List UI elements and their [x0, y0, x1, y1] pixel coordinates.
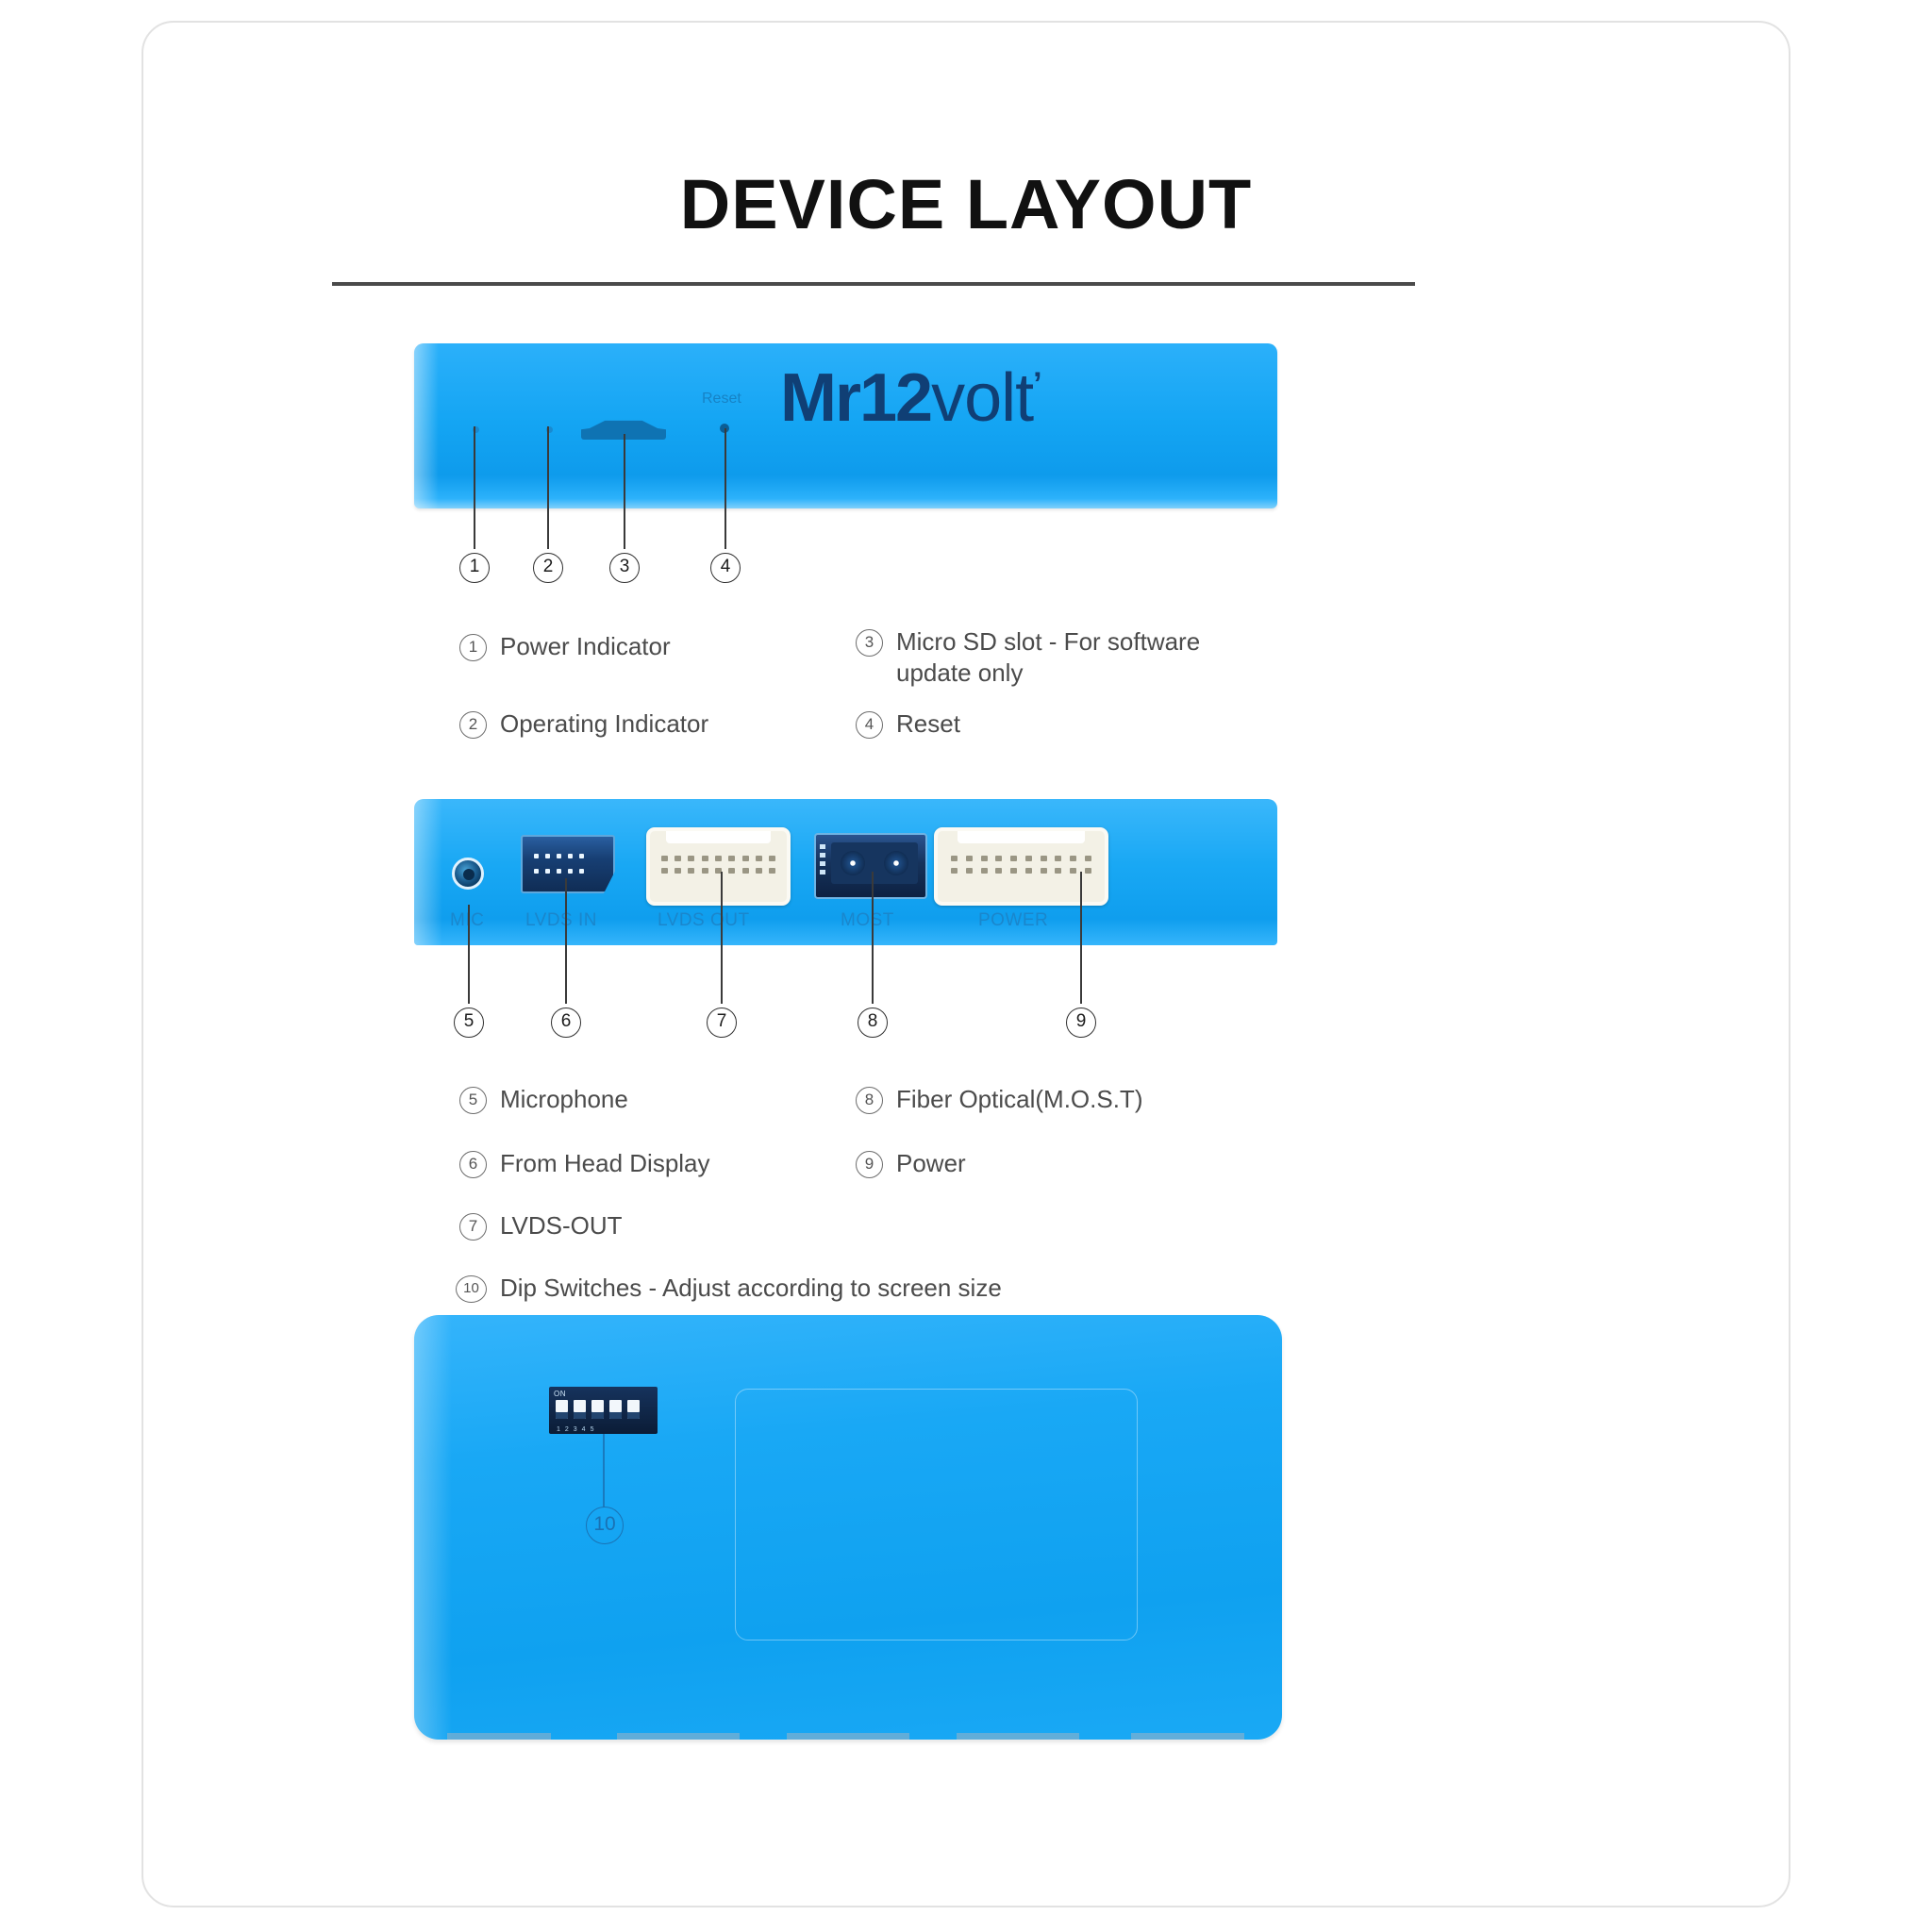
legend-item-3: 3 Micro SD slot - For software update on…	[856, 626, 1252, 690]
lvds-in-connector	[521, 835, 615, 893]
leader-line-2	[547, 426, 549, 549]
port-label-most: MOST	[841, 910, 894, 931]
legend-label-10: Dip Switches - Adjust according to scree…	[500, 1273, 1002, 1304]
legend-bullet-4: 4	[856, 711, 883, 739]
device-top-face: Reset Mr12volt’	[414, 343, 1277, 508]
lvds-out-notch	[666, 831, 770, 843]
callout-10: 10	[586, 1507, 624, 1544]
callout-4: 4	[710, 553, 741, 583]
callout-7: 7	[707, 1008, 737, 1038]
dip-on-label: ON	[554, 1390, 566, 1398]
most-side-pins	[820, 844, 825, 874]
leader-line-3	[624, 434, 625, 549]
legend-item-4: 4 Reset	[856, 708, 1252, 740]
brand-number: 12	[859, 360, 931, 436]
legend-bullet-6: 6	[459, 1151, 487, 1178]
port-label-lvds-in: LVDS IN	[525, 910, 597, 931]
legend-item-2: 2 Operating Indicator	[459, 708, 856, 740]
brand-prefix: Mr	[780, 360, 859, 436]
legend-item-8: 8 Fiber Optical(M.O.S.T)	[856, 1084, 1261, 1115]
device-highlight	[414, 343, 439, 508]
legend-label-6: From Head Display	[500, 1148, 710, 1179]
leader-line-7	[721, 872, 723, 1004]
device-foot-mid	[787, 1733, 909, 1740]
legend-item-9: 9 Power	[856, 1148, 1261, 1179]
legend-bullet-10: 10	[456, 1275, 487, 1303]
legend-label-1: Power Indicator	[500, 631, 671, 662]
legend-label-5: Microphone	[500, 1084, 628, 1115]
most-optical-ports	[831, 842, 918, 884]
lvds-out-pins	[661, 856, 776, 880]
legend-bullet-1: 1	[459, 634, 487, 661]
device-highlight-rear	[414, 799, 442, 945]
legend-bullet-9: 9	[856, 1151, 883, 1178]
legend-item-1: 1 Power Indicator	[459, 631, 856, 662]
legend-bullet-7: 7	[459, 1213, 487, 1241]
callout-8: 8	[858, 1008, 888, 1038]
legend-item-6: 6 From Head Display	[459, 1148, 865, 1179]
leader-line-4	[724, 428, 726, 549]
legend-label-3: Micro SD slot - For software update only	[896, 626, 1207, 690]
power-pins	[951, 856, 1091, 880]
legend-label-7: LVDS-OUT	[500, 1210, 623, 1241]
page-title: DEVICE LAYOUT	[143, 164, 1789, 244]
legend-bullet-5: 5	[459, 1087, 487, 1114]
label-plate-outline	[735, 1389, 1138, 1641]
title-divider	[332, 282, 1415, 286]
device-foot-right	[1131, 1733, 1244, 1740]
legend-label-2: Operating Indicator	[500, 708, 708, 740]
dip-switch-numbers: 12345	[557, 1426, 598, 1433]
most-fiber-connector	[814, 833, 927, 899]
lvds-out-connector	[646, 827, 791, 906]
legend-label-4: Reset	[896, 708, 960, 740]
legend-bullet-3: 3	[856, 629, 883, 657]
callout-1: 1	[459, 553, 490, 583]
device-foot-midleft	[617, 1733, 740, 1740]
device-foot-left	[447, 1733, 551, 1740]
callout-5: 5	[454, 1008, 484, 1038]
legend-bullet-8: 8	[856, 1087, 883, 1114]
brand-suffix: volt	[931, 360, 1033, 436]
device-rear-panel: MIC LVDS IN LVDS OUT MOST	[414, 799, 1277, 945]
device-foot-midright	[957, 1733, 1079, 1740]
leader-line-6	[565, 878, 567, 1004]
legend-item-5: 5 Microphone	[459, 1084, 865, 1115]
device-bottom-face: ON 12345 10	[414, 1315, 1282, 1740]
device-highlight-bottom	[414, 1315, 452, 1740]
callout-3: 3	[609, 553, 640, 583]
power-connector	[934, 827, 1108, 906]
port-label-power: POWER	[978, 910, 1048, 931]
legend-item-7: 7 LVDS-OUT	[459, 1210, 865, 1241]
legend-item-10: 10 Dip Switches - Adjust according to sc…	[456, 1273, 1173, 1304]
leader-line-1	[474, 426, 475, 549]
leader-line-5	[468, 905, 470, 1004]
leader-line-8	[872, 872, 874, 1004]
lvds-in-pins	[532, 850, 589, 880]
callout-2: 2	[533, 553, 563, 583]
layout-card: DEVICE LAYOUT Reset Mr12volt’ 1 2 3 4 1 …	[142, 21, 1790, 1907]
brand-logo: Mr12volt’	[780, 364, 1041, 432]
legend-bullet-2: 2	[459, 711, 487, 739]
brand-accent: ’	[1033, 366, 1040, 402]
legend-label-9: Power	[896, 1148, 966, 1179]
most-port-rx	[841, 851, 865, 875]
callout-9: 9	[1066, 1008, 1096, 1038]
reset-caption: Reset	[702, 391, 741, 408]
power-notch	[958, 831, 1085, 843]
port-label-lvds-out: LVDS OUT	[658, 910, 750, 931]
microphone-jack	[452, 858, 484, 890]
dip-switch-block: ON 12345	[549, 1387, 658, 1434]
leader-line-10	[603, 1434, 605, 1507]
most-port-tx	[884, 851, 908, 875]
callout-6: 6	[551, 1008, 581, 1038]
legend-label-8: Fiber Optical(M.O.S.T)	[896, 1084, 1142, 1115]
dip-switch-toggles	[556, 1400, 640, 1419]
leader-line-9	[1080, 872, 1082, 1004]
